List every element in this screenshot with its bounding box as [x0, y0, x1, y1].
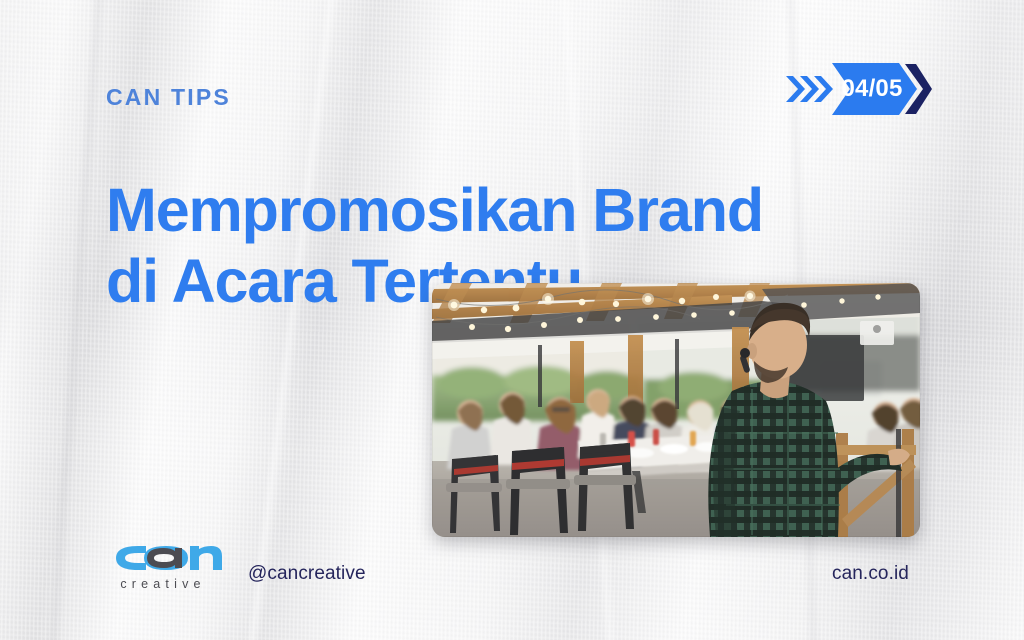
social-handle[interactable]: @cancreative: [248, 563, 366, 585]
website-url[interactable]: can.co.id: [832, 563, 909, 585]
eyebrow-label: CAN TIPS: [106, 84, 231, 111]
event-photo: [432, 283, 920, 537]
brand-logo: creative: [104, 538, 222, 600]
can-logo-icon: [104, 538, 222, 578]
logo-tagline: creative: [108, 577, 218, 591]
chevron-group-icon: [786, 76, 833, 102]
page-counter-badge: 04/05: [786, 60, 932, 118]
page-counter-text: 04/05: [834, 60, 910, 118]
social-media-card: CAN TIPS Mempromosikan Brand di Acara Te…: [0, 0, 1024, 640]
